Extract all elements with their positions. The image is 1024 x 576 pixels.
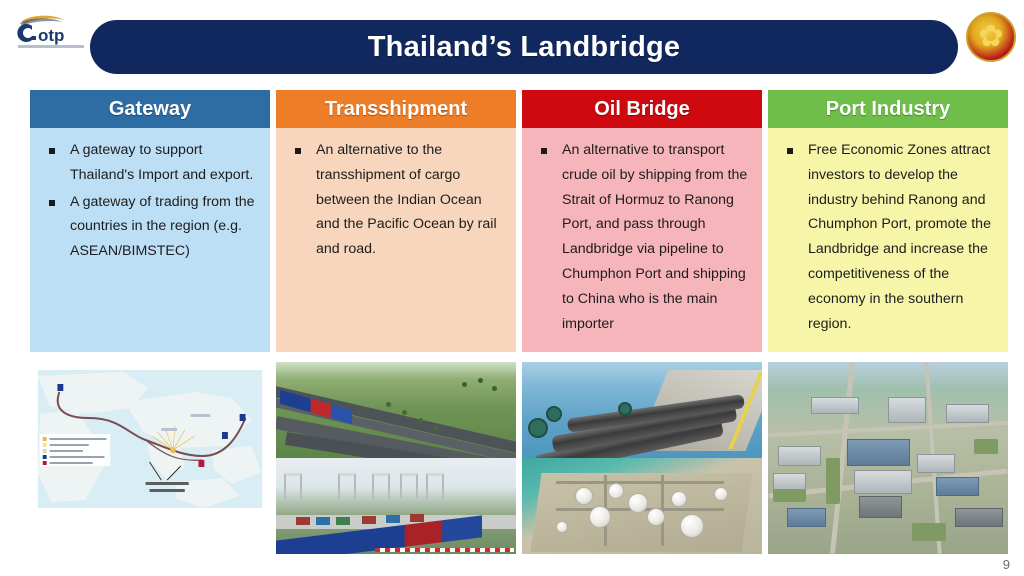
terminal-land — [531, 473, 753, 552]
image-strip — [30, 362, 1008, 554]
column-body-gateway: A gateway to support Thailand's Import a… — [30, 128, 270, 352]
bullet-list-port-industry: Free Economic Zones attract investors to… — [774, 138, 1000, 336]
bullet-item: An alternative to the transshipment of c… — [282, 138, 508, 262]
highway-illustration — [276, 362, 516, 458]
bullet-item: An alternative to transport crude oil by… — [528, 138, 754, 336]
column-body-transshipment: An alternative to the transshipment of c… — [276, 128, 516, 352]
barrier-stripe — [375, 548, 514, 552]
column-gateway: Gateway A gateway to support Thailand's … — [30, 90, 270, 352]
pipeline-illustration — [522, 362, 762, 458]
image-corridor-and-port — [276, 362, 516, 554]
column-body-port-industry: Free Economic Zones attract investors to… — [768, 128, 1008, 352]
column-header-port-industry: Port Industry — [768, 90, 1008, 128]
slide-header: otp Thailand’s Landbridge ✿ — [0, 0, 1024, 88]
image-industrial-estate — [768, 362, 1008, 554]
otp-logo: otp — [10, 12, 96, 52]
bullet-item: A gateway of trading from the countries … — [36, 190, 262, 264]
container-port-illustration — [276, 458, 516, 554]
column-header-transshipment: Transshipment — [276, 90, 516, 128]
image-motorway-rail-render — [276, 362, 516, 458]
bullet-item: A gateway to support Thailand's Import a… — [36, 138, 262, 188]
column-transshipment: Transshipment An alternative to the tran… — [276, 90, 516, 352]
tank-farm-illustration — [522, 458, 762, 554]
thai-government-seal-icon: ✿ — [966, 12, 1016, 62]
content-columns: Gateway A gateway to support Thailand's … — [30, 90, 1008, 352]
image-pipeline-and-tankfarm — [522, 362, 762, 554]
column-oil-bridge: Oil Bridge An alternative to transport c… — [522, 90, 762, 352]
bullet-list-gateway: A gateway to support Thailand's Import a… — [36, 138, 262, 264]
map-illustration — [30, 362, 270, 554]
seal-glyph: ✿ — [968, 14, 1014, 60]
svg-text:otp: otp — [38, 26, 64, 45]
bullet-list-oil-bridge: An alternative to transport crude oil by… — [528, 138, 754, 336]
column-port-industry: Port Industry Free Economic Zones attrac… — [768, 90, 1008, 352]
bullet-item: Free Economic Zones attract investors to… — [774, 138, 1000, 336]
column-header-oil-bridge: Oil Bridge — [522, 90, 762, 128]
image-sea-pipeline-trestle — [522, 362, 762, 458]
slide-title-bar: Thailand’s Landbridge — [90, 20, 958, 74]
column-header-gateway: Gateway — [30, 90, 270, 128]
image-container-port-render — [276, 458, 516, 554]
image-oil-tank-farm — [522, 458, 762, 554]
industrial-estate-illustration — [768, 362, 1008, 554]
page-title: Thailand’s Landbridge — [368, 31, 680, 64]
bullet-list-transshipment: An alternative to the transshipment of c… — [282, 138, 508, 262]
column-body-oil-bridge: An alternative to transport crude oil by… — [522, 128, 762, 352]
image-world-map — [30, 362, 270, 554]
page-number: 9 — [1003, 557, 1010, 572]
